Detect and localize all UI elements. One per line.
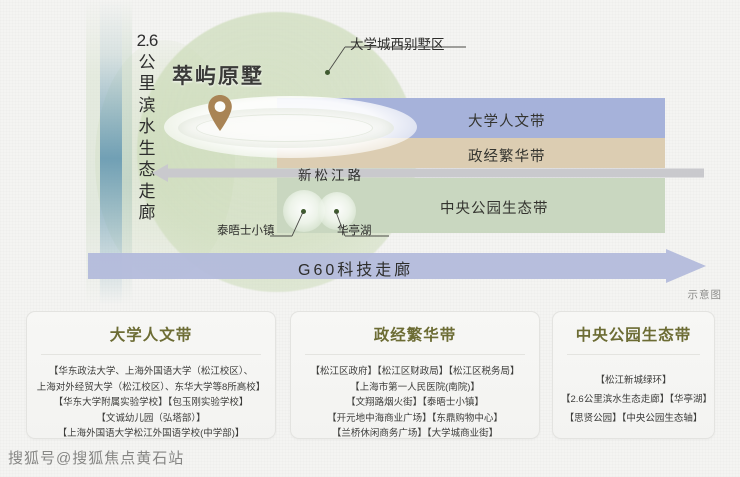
card-line: 【兰桥休闲商务广场】【大学城商业街】 [299,426,531,442]
card-line: 【思贤公园】【中央公园生态轴】 [561,409,706,428]
map-pin-icon [207,94,233,132]
card-title: 中央公园生态带 [553,323,714,345]
card-line: 【开元地中海商业广场】【东鼎购物中心】 [299,411,531,427]
page-root: 2.6 公 里 滨 水 生 态 走 廊 萃屿原墅 大学人文带 政经繁华带 中央公… [0,0,740,477]
vertical-label-number: 2.6 [133,30,161,52]
callout-label-huating-lake: 华亭湖 [337,222,372,238]
card-body: 【松江新城绿环】 【2.6公里滨水生态走廊】【华亭湖】 【思贤公园】【中央公园生… [553,355,714,428]
project-name: 萃屿原墅 [172,60,264,90]
belt-detail-cards: 大学人文带 【华东政法大学、上海外国语大学（松江校区）、 上海对外经贸大学（松江… [0,311,740,451]
card-line: 【华东大学附属实验学校】【包玉刚实验学校】 [35,395,267,411]
schematic-note: 示意图 [688,287,723,302]
vertical-label-char-4: 生 [133,138,161,160]
vertical-label-char-3: 水 [133,116,161,138]
card-line: 上海对外经贸大学（松江校区）、东华大学等8所高校】 [35,380,267,396]
card-body: 【华东政法大学、上海外国语大学（松江校区）、 上海对外经贸大学（松江校区）、东华… [27,355,275,442]
callout-label-villa-district: 大学城西别墅区 [350,33,445,53]
card-government-economy[interactable]: 政经繁华带 【松江区政府】【松江区财政局】【松江区税务局】 【上海市第一人民医院… [290,311,540,439]
card-line: 【文翔路烟火街】【泰晤士小镇】 [299,395,531,411]
thames-town-dot [301,209,306,214]
huating-lake-dot [334,209,339,214]
card-university-humanities[interactable]: 大学人文带 【华东政法大学、上海外国语大学（松江校区）、 上海对外经贸大学（松江… [26,311,276,439]
waterfront-corridor-vertical-label: 2.6 公 里 滨 水 生 态 走 廊 [133,30,161,224]
card-line: 【松江区政府】【松江区财政局】【松江区税务局】 [299,364,531,380]
card-title: 大学人文带 [27,323,275,345]
card-line: 【上海市第一人民医院(南院)】 [299,380,531,396]
card-line: 【2.6公里滨水生态走廊】【华亭湖】 [561,390,706,409]
vertical-label-char-1: 里 [133,73,161,95]
vertical-label-char-2: 滨 [133,95,161,117]
card-central-park-ecology[interactable]: 中央公园生态带 【松江新城绿环】 【2.6公里滨水生态走廊】【华亭湖】 【思贤公… [552,311,715,439]
road-label: 新松江路 [298,164,364,184]
card-body: 【松江区政府】【松江区财政局】【松江区税务局】 【上海市第一人民医院(南院)】 … [291,355,539,442]
watermark: 搜狐号@搜狐焦点黄石站 [8,447,184,468]
card-line: 【上海外国语大学松江外国语学校(中学部)】 [35,426,267,442]
card-title: 政经繁华带 [291,323,539,345]
g60-corridor-label: G60科技走廊 [298,256,413,280]
villa-district-dot [325,70,330,75]
road-arrow-xinsongjiang [152,162,704,184]
belt-label-central-park: 中央公园生态带 [440,197,549,218]
vertical-label-char-0: 公 [133,52,161,74]
callout-label-thames-town: 泰晤士小镇 [217,222,275,238]
vertical-label-char-7: 廊 [133,202,161,224]
card-line: 【文诚幼儿园（弘塔部）】 [35,411,267,427]
belt-label-university: 大学人文带 [468,110,546,131]
location-diagram: 2.6 公 里 滨 水 生 态 走 廊 萃屿原墅 大学人文带 政经繁华带 中央公… [0,0,740,305]
card-line: 【松江新城绿环】 [561,371,706,390]
card-line: 【华东政法大学、上海外国语大学（松江校区）、 [35,364,267,380]
